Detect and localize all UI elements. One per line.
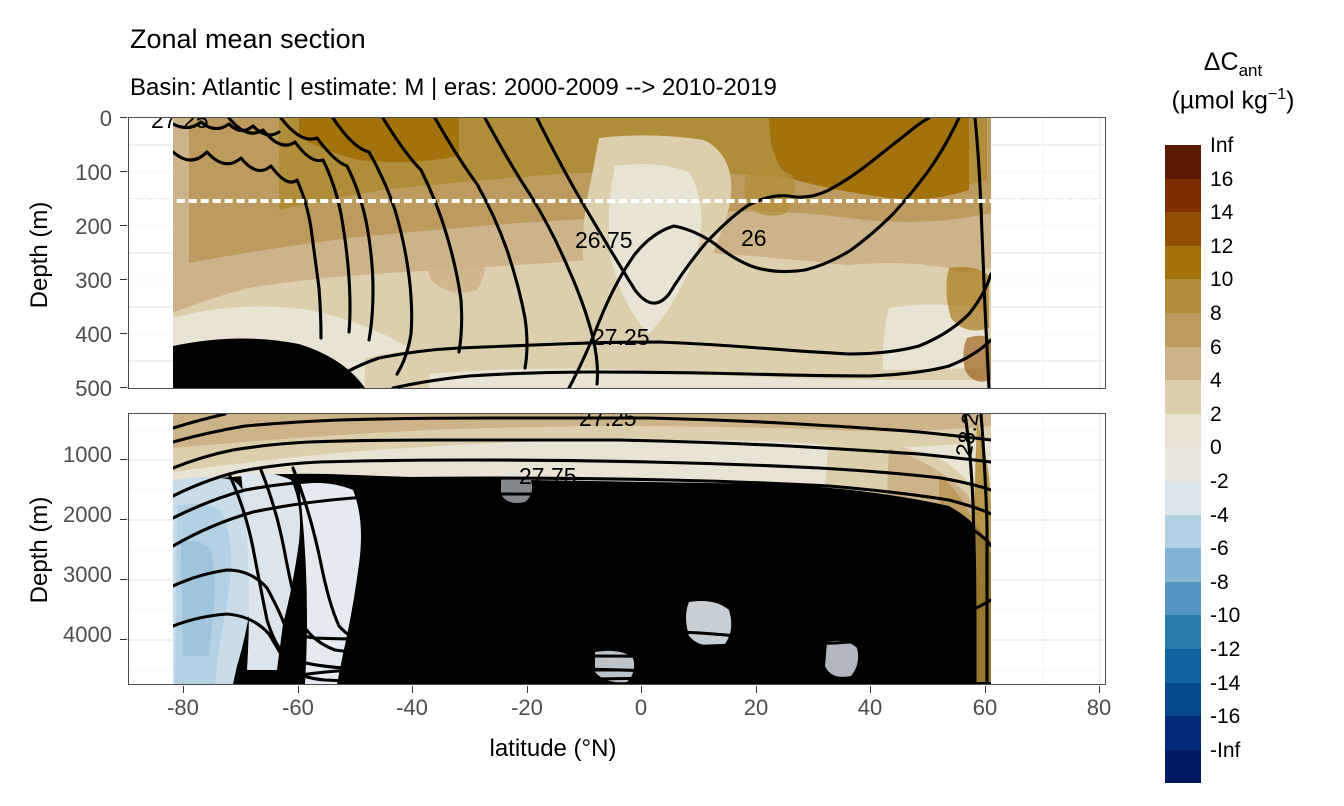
legend-swatch-15 [1165,649,1201,683]
xtick-3: -20 [492,695,562,721]
chart-subtitle: Basin: Atlantic | estimate: M | eras: 20… [130,74,777,102]
legend-swatch-10 [1165,481,1201,515]
legend-tick-6: 6 [1210,336,1222,360]
legend-swatch-11 [1165,515,1201,549]
legend-tick-3: 12 [1210,235,1233,259]
legend-tick-0: Inf [1210,134,1233,158]
legend-tick-13: -8 [1210,571,1229,595]
contour-label-lower-0: 27.25 [579,414,637,431]
contour-label-lower-4: 28.2 [434,661,479,684]
lower-panel-canvas: 27.25 27.75 27.95 28.1 28.2 28.1 28.2 [129,414,1105,684]
contour-label-upper-3: 27.25 [592,324,650,350]
legend-tick-10: -2 [1210,470,1229,494]
legend-tick-15: -12 [1210,638,1240,662]
plot-panel-upper: 27.25 26.75 26 27.25 [128,117,1106,389]
contour-label-upper-1: 26.75 [575,227,633,253]
legend-tick-1: 16 [1210,168,1233,192]
legend-swatch-5 [1165,313,1201,347]
legend-swatch-17 [1165,716,1201,750]
legend-tick-8: 2 [1210,403,1222,427]
legend-swatch-6 [1165,347,1201,381]
legend-tick-5: 8 [1210,302,1222,326]
legend-tick-12: -6 [1210,537,1229,561]
legend-swatch-3 [1165,246,1201,280]
upper-panel-canvas: 27.25 26.75 26 27.25 [129,118,1105,388]
chart-root: Zonal mean section Basin: Atlantic | est… [0,0,1344,806]
page-title: Zonal mean section [130,24,366,55]
upper-field [173,118,991,388]
plot-panel-lower: 27.25 27.75 27.95 28.1 28.2 28.1 28.2 [128,413,1106,685]
legend-units-open: (µmol kg [1172,86,1268,114]
xtick-0: -80 [148,695,218,721]
legend-tick-18: -Inf [1210,739,1240,763]
legend-units-exponent: −1 [1268,86,1286,103]
contour-label-upper-0: 27.25 [151,118,209,133]
contour-label-upper-2: 26 [741,225,767,251]
legend-tick-14: -10 [1210,604,1240,628]
legend-colorbar[interactable] [1165,145,1201,783]
legend-swatch-1 [1165,179,1201,213]
legend-swatch-13 [1165,582,1201,616]
legend-swatch-0 [1165,145,1201,179]
x-axis-title: latitude (°N) [0,735,1106,763]
legend-title-subscript: ant [1239,61,1263,80]
y-axis-title-lower: Depth (m) [26,420,54,680]
y-axis-title-upper: Depth (m) [26,125,54,385]
contour-label-lower-2: 27.95 [639,501,697,527]
legend-tick-2: 14 [1210,201,1233,225]
legend-swatch-18 [1165,750,1201,784]
reference-depth-line [129,199,1105,203]
legend-tick-16: -14 [1210,672,1240,696]
xtick-4: 0 [606,695,676,721]
contour-label-lower-1: 27.75 [519,463,577,489]
legend-swatch-4 [1165,279,1201,313]
legend-tick-7: 4 [1210,369,1222,393]
legend-tick-4: 10 [1210,268,1233,292]
legend-tick-17: -16 [1210,705,1240,729]
legend-swatch-16 [1165,683,1201,717]
legend-swatch-8 [1165,414,1201,448]
xtick-7: 60 [950,695,1020,721]
legend-swatch-14 [1165,615,1201,649]
legend-swatch-7 [1165,380,1201,414]
legend-units-close: ) [1286,86,1294,114]
legend-swatch-12 [1165,548,1201,582]
xtick-8: 80 [1064,695,1134,721]
lower-field [173,414,991,684]
legend-tick-11: -4 [1210,504,1229,528]
legend-tick-9: 0 [1210,436,1222,460]
xtick-6: 40 [835,695,905,721]
xtick-1: -60 [263,695,333,721]
legend-title-line2: (µmol kg−1) [1140,86,1326,115]
legend-swatch-2 [1165,212,1201,246]
legend-swatch-9 [1165,447,1201,481]
contour-label-lower-3: 28.1 [492,619,537,645]
xtick-5: 20 [721,695,791,721]
xtick-2: -40 [377,695,447,721]
legend-title-line1: ΔCant [1140,48,1326,81]
legend-title-delta-c: ΔC [1204,48,1239,76]
